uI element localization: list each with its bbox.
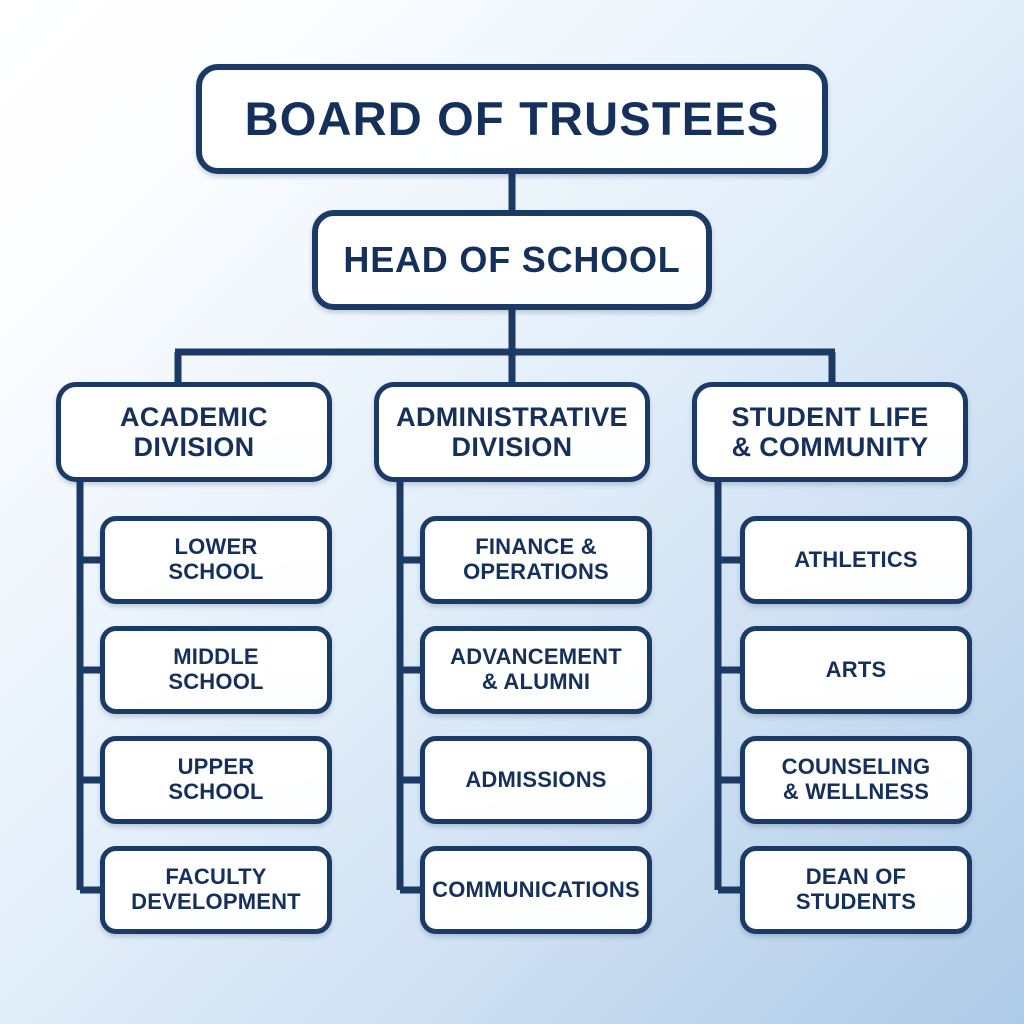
node-advancement-alumni[interactable]: ADVANCEMENT & ALUMNI xyxy=(420,626,652,714)
node-label: ADVANCEMENT & ALUMNI xyxy=(442,645,630,694)
node-administrative-division[interactable]: ADMINISTRATIVE DIVISION xyxy=(374,382,650,482)
node-label: COUNSELING & WELLNESS xyxy=(774,755,939,804)
node-upper-school[interactable]: UPPER SCHOOL xyxy=(100,736,332,824)
node-middle-school[interactable]: MIDDLE SCHOOL xyxy=(100,626,332,714)
node-label: FACULTY DEVELOPMENT xyxy=(123,865,309,914)
node-dean-of-students[interactable]: DEAN OF STUDENTS xyxy=(740,846,972,934)
node-label: FINANCE & OPERATIONS xyxy=(455,535,617,584)
node-label: ACADEMIC DIVISION xyxy=(112,402,276,462)
node-faculty-development[interactable]: FACULTY DEVELOPMENT xyxy=(100,846,332,934)
node-lower-school[interactable]: LOWER SCHOOL xyxy=(100,516,332,604)
node-label: UPPER SCHOOL xyxy=(160,755,271,804)
org-chart: BOARD OF TRUSTEES HEAD OF SCHOOL ACADEMI… xyxy=(0,0,1024,1024)
node-athletics[interactable]: ATHLETICS xyxy=(740,516,972,604)
node-communications[interactable]: COMMUNICATIONS xyxy=(420,846,652,934)
node-label: ATHLETICS xyxy=(786,548,926,573)
node-counseling-wellness[interactable]: COUNSELING & WELLNESS xyxy=(740,736,972,824)
node-arts[interactable]: ARTS xyxy=(740,626,972,714)
node-label: BOARD OF TRUSTEES xyxy=(237,93,788,146)
node-academic-division[interactable]: ACADEMIC DIVISION xyxy=(56,382,332,482)
node-student-life-community[interactable]: STUDENT LIFE & COMMUNITY xyxy=(692,382,968,482)
node-label: HEAD OF SCHOOL xyxy=(335,240,688,280)
node-board-of-trustees[interactable]: BOARD OF TRUSTEES xyxy=(196,64,828,174)
node-finance-operations[interactable]: FINANCE & OPERATIONS xyxy=(420,516,652,604)
node-label: COMMUNICATIONS xyxy=(424,878,648,903)
node-label: ARTS xyxy=(818,658,895,683)
node-label: ADMISSIONS xyxy=(457,768,614,793)
node-label: STUDENT LIFE & COMMUNITY xyxy=(723,402,936,462)
node-label: MIDDLE SCHOOL xyxy=(160,645,271,694)
node-admissions[interactable]: ADMISSIONS xyxy=(420,736,652,824)
node-label: DEAN OF STUDENTS xyxy=(788,865,924,914)
node-label: LOWER SCHOOL xyxy=(160,535,271,584)
node-label: ADMINISTRATIVE DIVISION xyxy=(388,402,636,462)
node-head-of-school[interactable]: HEAD OF SCHOOL xyxy=(312,210,712,310)
